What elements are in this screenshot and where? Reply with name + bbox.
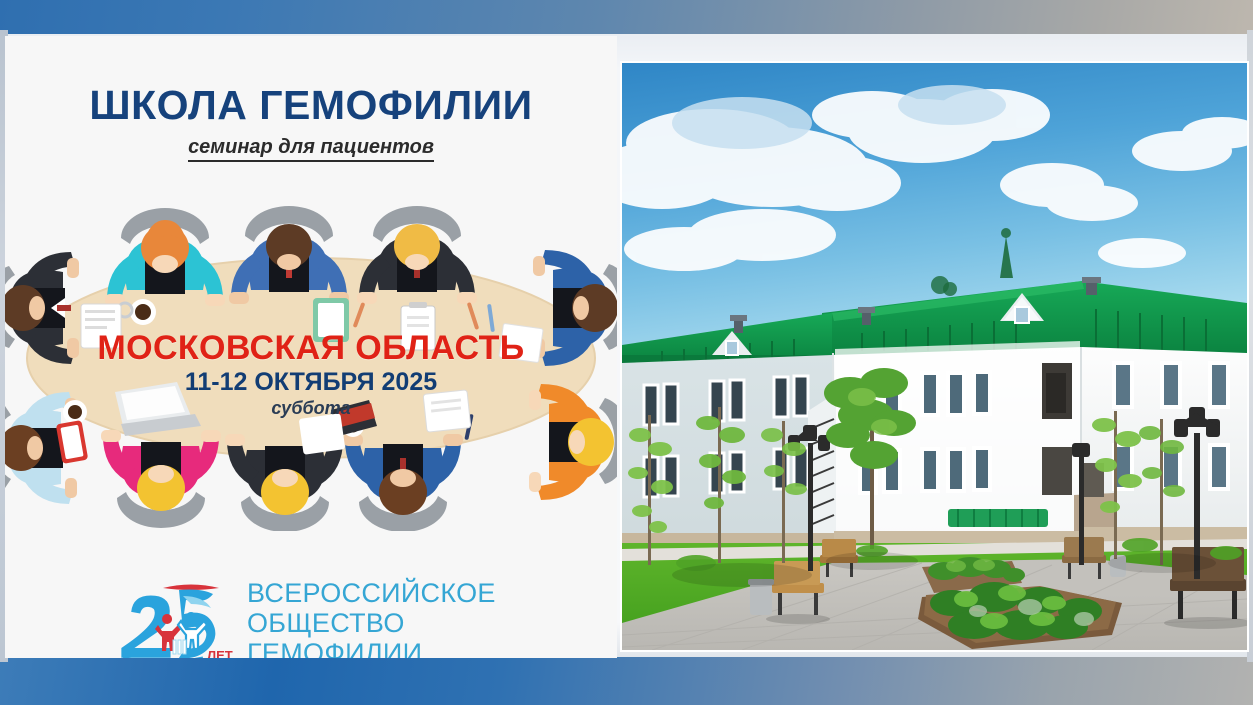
org-name-line-3: ГЕМОФИЛИИ: [247, 638, 496, 658]
person-teal: [105, 208, 225, 306]
person-dark-suit-top: [357, 206, 477, 304]
background-bottom-band: [0, 657, 1253, 705]
organization-name: ВСЕРОССИЙСКОЕ ОБЩЕСТВО ГЕМОФИЛИИ: [247, 578, 496, 658]
page-subtitle-text: семинар для пациентов: [188, 136, 434, 162]
person-blue-bottom: [343, 434, 463, 531]
page-subtitle: семинар для пациентов: [5, 136, 617, 159]
org-name-line-2: ОБЩЕСТВО: [247, 608, 496, 638]
person-magenta-bottom: [101, 430, 221, 528]
event-dates: 11-12 ОКТЯБРЯ 2025: [5, 368, 617, 397]
anniversary-word: ЛЕТ: [207, 648, 233, 658]
event-region: МОСКОВСКАЯ ОБЛАСТЬ: [5, 329, 617, 368]
background-top-band: [0, 0, 1253, 34]
person-blue-suit-top: [229, 206, 349, 304]
anniversary-logo-svg: ЛЕТ ПОМОГАЕМ ЛЮДЯМ: [117, 578, 239, 658]
org-name-line-1: ВСЕРОССИЙСКОЕ: [247, 578, 496, 608]
anniversary-logo-mark: ЛЕТ ПОМОГАЕМ ЛЮДЯМ: [117, 578, 239, 658]
page-title: ШКОЛА ГЕМОФИЛИИ: [5, 82, 617, 129]
background-right-edge: [1247, 30, 1253, 662]
poster-left-card: ШКОЛА ГЕМОФИЛИИ семинар для пациентов: [5, 36, 617, 658]
event-weekday: суббота: [5, 398, 617, 419]
poster-stage: ШКОЛА ГЕМОФИЛИИ семинар для пациентов: [0, 0, 1253, 705]
venue-photo-svg: [622, 63, 1247, 650]
organization-logo-row: ЛЕТ ПОМОГАЕМ ЛЮДЯМ ВСЕРОССИЙСКОЕ ОБЩЕСТВ…: [117, 574, 537, 658]
venue-photo: [622, 63, 1247, 650]
